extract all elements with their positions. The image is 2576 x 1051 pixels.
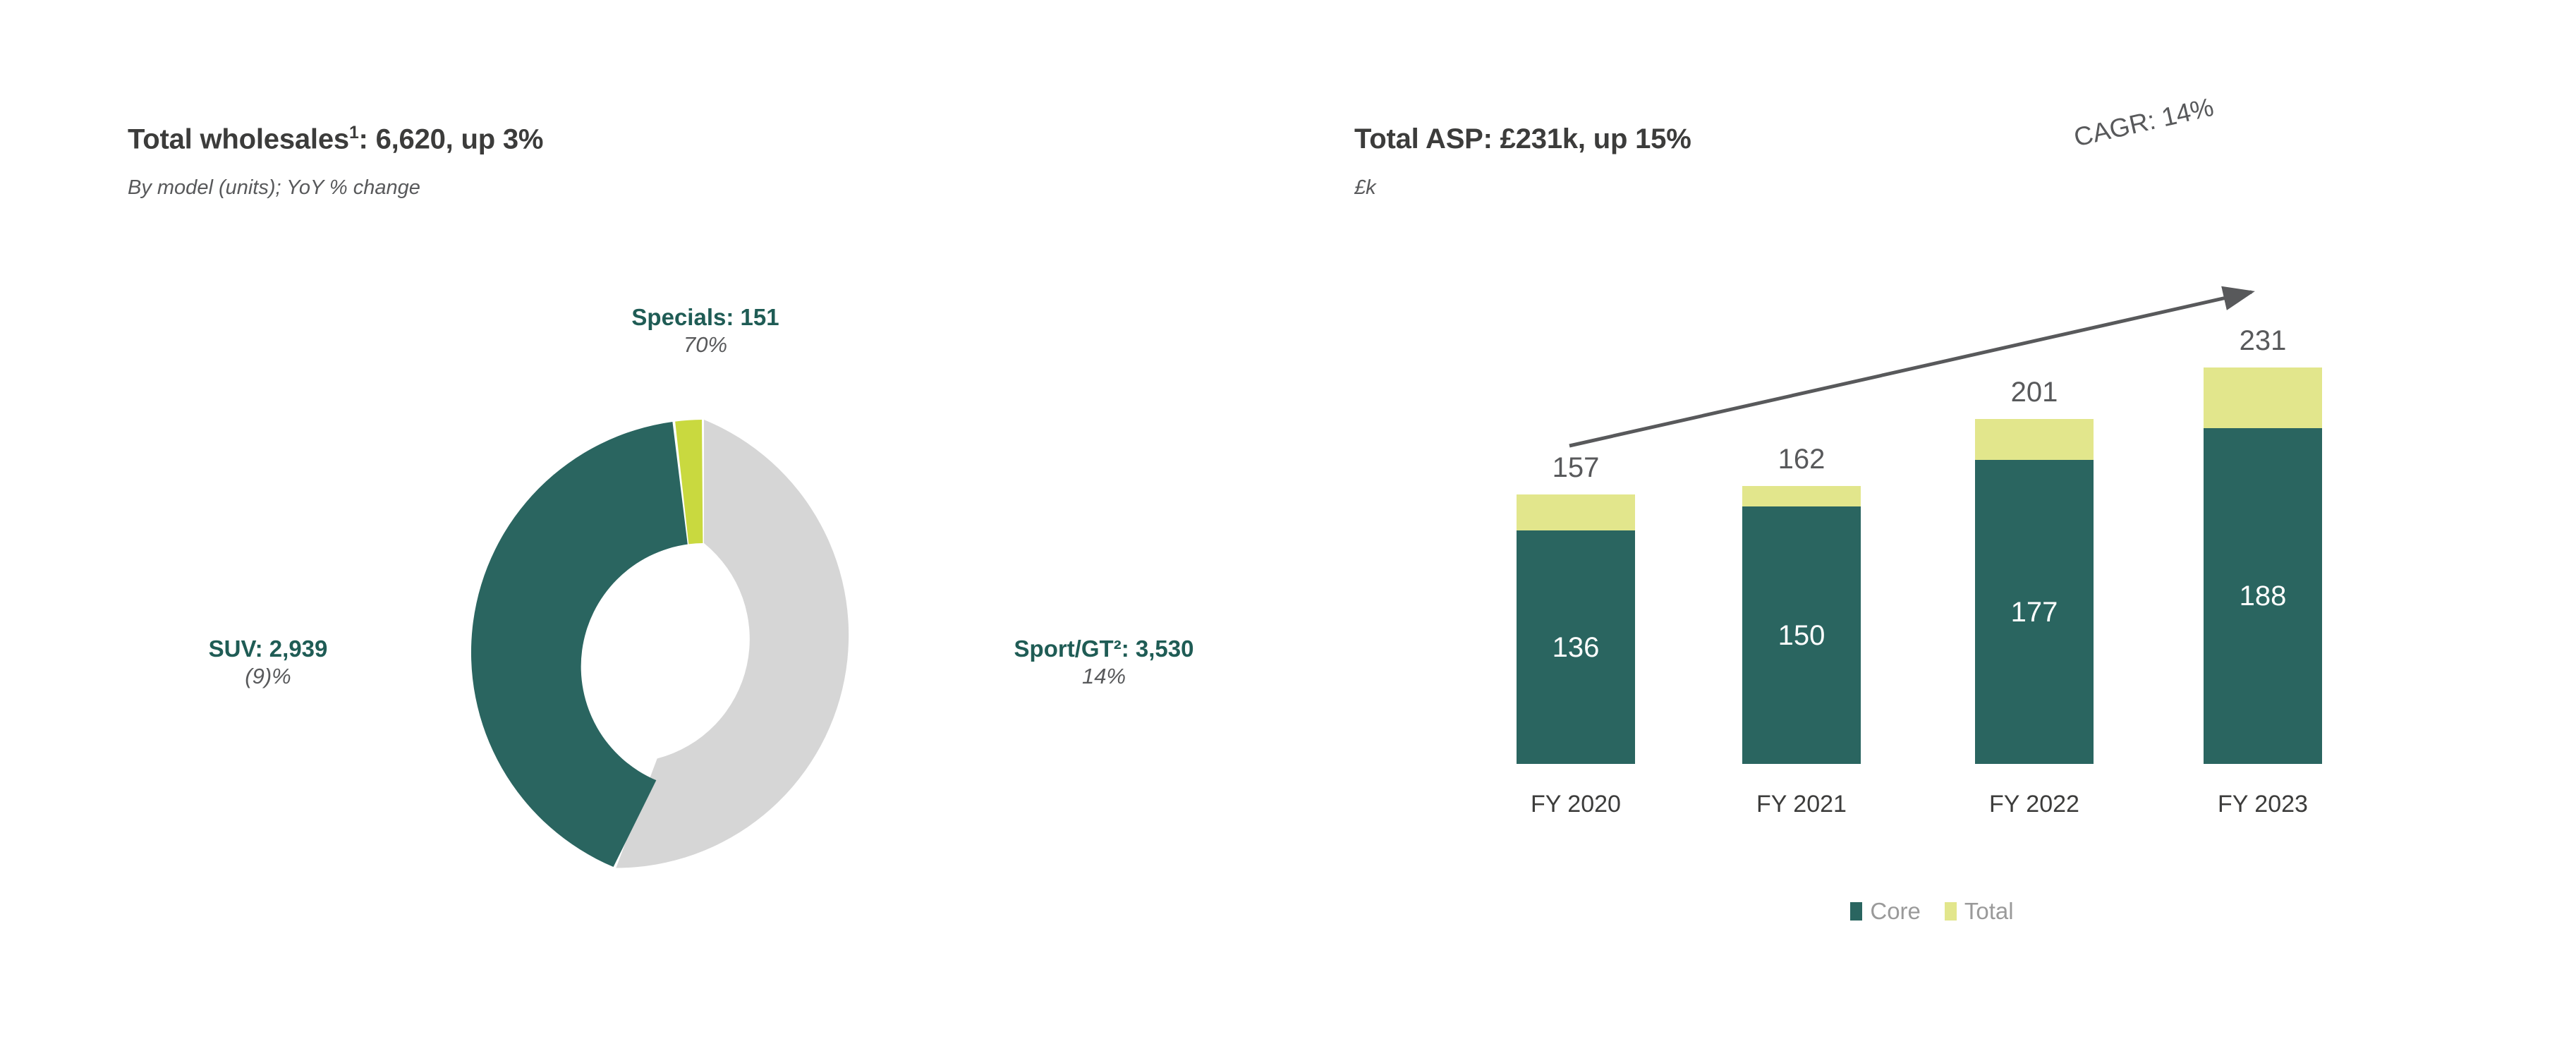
bar-category-fy2023: FY 2023 [2185,791,2340,818]
wholesales-title: Total wholesales1: 6,620, up 3% [128,123,543,155]
legend-label-total: Total [1964,899,2014,923]
bar-segment-core-fy2021[interactable]: 150 [1742,506,1861,764]
wholesales-title-prefix: Total wholesales [128,123,349,154]
donut-label-specials-name: Specials: 151 [494,303,917,332]
bar-segment-core-fy2022[interactable]: 177 [1975,460,2094,764]
donut-label-sport-gt-name: Sport/GT²: 3,530 [938,635,1270,663]
donut-label-sport-gt-yoy: 14% [938,663,1270,690]
bar-category-fy2020: FY 2020 [1498,791,1653,818]
bar-segment-core-fy2023[interactable]: 188 [2204,428,2322,764]
bar-core-value-fy2022: 177 [1975,598,2094,626]
wholesales-title-footnote-marker: 1 [349,123,359,142]
donut-label-sport-gt: Sport/GT²: 3,530 14% [938,635,1270,690]
asp-legend: Core Total [1288,899,2576,923]
bar-stack-fy2021[interactable]: 150 162 FY 2021 [1742,486,1861,764]
bar-total-value-fy2021: 162 [1742,445,1861,473]
bar-segment-total-fy2023[interactable] [2204,367,2322,428]
bar-group-fy2023[interactable]: 188 231 FY 2023 [2204,367,2322,764]
bar-core-value-fy2020: 136 [1517,633,1635,662]
bar-segment-core-fy2020[interactable]: 136 [1517,530,1635,764]
cagr-arrow [1288,0,2576,1051]
bar-segment-total-fy2020[interactable] [1517,494,1635,530]
legend-swatch-core-icon [1850,902,1862,921]
asp-bar-chart: CAGR: 14% 136 157 FY 2020 150 162 FY 202… [1288,0,2576,1051]
bar-category-fy2021: FY 2021 [1724,791,1879,818]
donut-label-suv-name: SUV: 2,939 [78,635,458,663]
legend-swatch-total-icon [1945,902,1957,921]
bar-segment-total-fy2021[interactable] [1742,486,1861,506]
wholesales-subtitle: By model (units); YoY % change [128,176,420,200]
bar-core-value-fy2021: 150 [1742,621,1861,650]
asp-panel: Total ASP: £231k, up 15% £k CAGR: 14% 13… [1288,0,2576,1051]
bar-stack-fy2022[interactable]: 177 201 FY 2022 [1975,419,2094,764]
bar-segment-total-fy2022[interactable] [1975,419,2094,460]
bar-group-fy2021[interactable]: 150 162 FY 2021 [1742,486,1861,764]
wholesales-title-suffix: : 6,620, up 3% [359,123,544,154]
bar-core-value-fy2023: 188 [2204,582,2322,610]
legend-item-core[interactable]: Core [1850,899,1921,923]
wholesales-donut-chart [468,416,940,889]
donut-svg [468,416,940,889]
bar-total-value-fy2023: 231 [2204,327,2322,355]
bar-group-fy2020[interactable]: 136 157 FY 2020 [1517,494,1635,764]
legend-item-total[interactable]: Total [1945,899,2014,923]
legend-label-core: Core [1870,899,1921,923]
wholesales-panel: Total wholesales1: 6,620, up 3% By model… [0,0,1288,1051]
donut-label-suv: SUV: 2,939 (9)% [78,635,458,690]
bar-category-fy2022: FY 2022 [1957,791,2112,818]
bar-total-value-fy2022: 201 [1975,378,2094,406]
cagr-label: CAGR: 14% [2071,92,2216,153]
bar-group-fy2022[interactable]: 177 201 FY 2022 [1975,419,2094,764]
cagr-arrow-line [1569,292,2252,446]
bar-stack-fy2023[interactable]: 188 231 FY 2023 [2204,367,2322,764]
donut-label-suv-yoy: (9)% [78,663,458,690]
donut-label-specials: Specials: 151 70% [494,303,917,358]
bar-total-value-fy2020: 157 [1517,454,1635,482]
bar-stack-fy2020[interactable]: 136 157 FY 2020 [1517,494,1635,764]
donut-label-specials-yoy: 70% [494,332,917,358]
